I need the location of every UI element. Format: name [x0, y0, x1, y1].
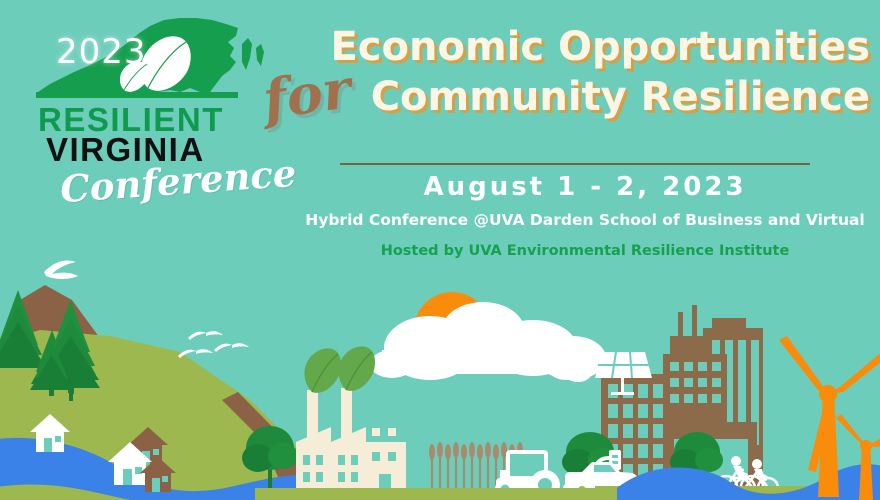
headline: Economic Opportunities Community Resilie…: [300, 22, 870, 122]
conference-banner: 2023 RESILIENT VIRGINIA Conference Econo…: [0, 0, 880, 500]
conference-date: August 1 - 2, 2023: [300, 172, 870, 202]
conference-venue: Hybrid Conference @UVA Darden School of …: [290, 211, 880, 229]
divider: [340, 163, 810, 165]
headline-line-1: Economic Opportunities: [300, 22, 870, 72]
conference-host: Hosted by UVA Environmental Resilience I…: [300, 243, 870, 259]
conference-logo: 2023 RESILIENT VIRGINIA Conference: [30, 14, 270, 204]
headline-line-2: Community Resilience: [300, 72, 870, 122]
logo-year: 2023: [56, 32, 147, 72]
headline-connector: for: [259, 56, 355, 132]
